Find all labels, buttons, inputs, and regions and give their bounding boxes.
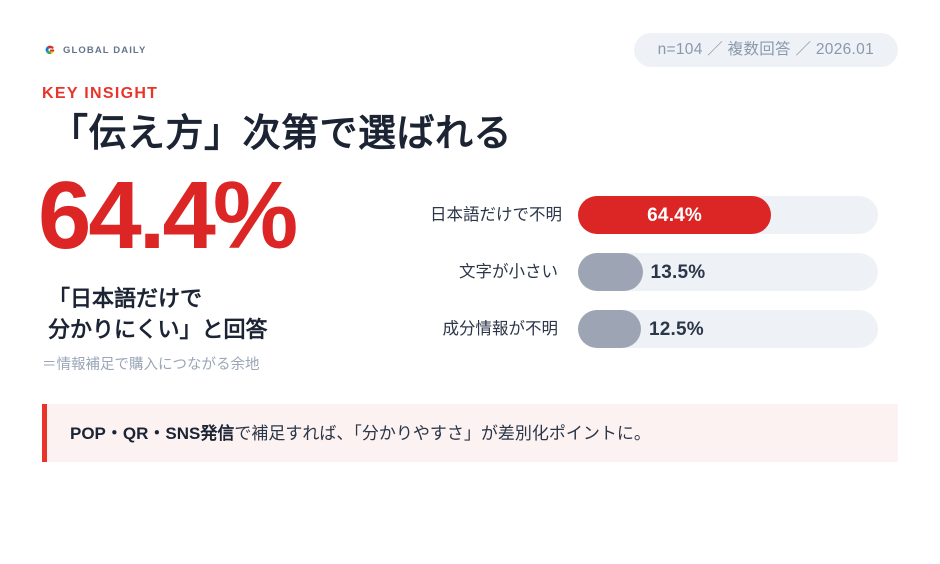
bar-row: 日本語だけで不明 64.4% [430,196,900,234]
brand-name: GLOBAL DAILY [63,45,146,56]
response-bar-chart: 日本語だけで不明 64.4% 文字が小さい 13.5% 成分情報が不明 12.5… [430,196,900,348]
callout-text: POP・QR・SNS発信で補足すれば、「分かりやすさ」が差別化ポイントに。 [47,425,651,442]
bar-row: 文字が小さい 13.5% [430,253,900,291]
bar-value: 13.5% [651,253,706,291]
bar-track: 13.5% [578,253,878,291]
takeaway-callout: POP・QR・SNS発信で補足すれば、「分かりやすさ」が差別化ポイントに。 [42,404,898,462]
callout-rest-text: で補足すれば、「分かりやすさ」が差別化ポイントに。 [234,424,651,443]
bar-label: 成分情報が不明 [430,321,578,338]
bar-value: 12.5% [649,310,704,348]
brand-lockup: GLOBAL DAILY [42,43,146,58]
statistic-description-line-2: 分かりにくい」と回答 [48,314,268,345]
bar-fill: 64.4% [578,196,771,234]
statistic-footnote: ＝情報補足で購入につながる余地 [42,356,260,375]
statistic-description-line-1: 「日本語だけで [48,283,268,314]
bar-track: 64.4% [578,196,878,234]
headline-statistic: 64.4% [38,166,295,267]
bar-label: 文字が小さい [430,264,578,281]
slide-canvas: GLOBAL DAILY n=104 ／ 複数回答 ／ 2026.01 KEY … [0,0,940,564]
bar-fill [578,310,641,348]
bar-row: 成分情報が不明 12.5% [430,310,900,348]
bar-fill [578,253,643,291]
statistic-description: 「日本語だけで 分かりにくい」と回答 [48,283,268,345]
page-title: 「伝え方」次第で選ばれる [50,112,512,158]
bar-value: 64.4% [647,206,702,225]
survey-meta-badge: n=104 ／ 複数回答 ／ 2026.01 [634,33,898,68]
bar-label: 日本語だけで不明 [430,207,578,224]
slide-header: GLOBAL DAILY n=104 ／ 複数回答 ／ 2026.01 [42,30,898,70]
global-daily-s-logo-icon [42,43,57,58]
callout-strong-text: POP・QR・SNS発信 [70,424,234,443]
bar-track: 12.5% [578,310,878,348]
key-insight-eyebrow: KEY INSIGHT [42,86,158,102]
